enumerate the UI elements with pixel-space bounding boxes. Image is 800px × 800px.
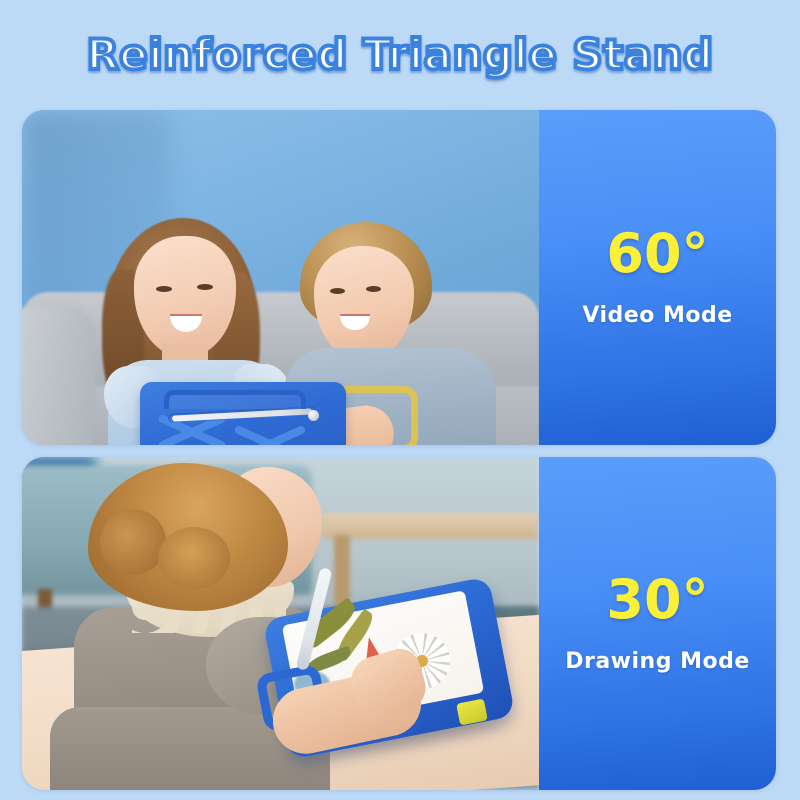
header: Reinforced Triangle Stand [0, 0, 800, 108]
photo-video-mode [22, 110, 539, 445]
info-video-mode: 60° Video Mode [539, 110, 776, 445]
case-carry-handle [164, 390, 306, 409]
scene-sofa-armrest [22, 306, 96, 445]
girl-eye-right [197, 284, 213, 290]
girl-hair-curl-2 [158, 527, 230, 589]
page-title: Reinforced Triangle Stand [86, 30, 713, 79]
angle-value-60: 60° [606, 227, 708, 281]
feature-panel-drawing-mode: 30° Drawing Mode [22, 457, 776, 790]
boy-eye-left [330, 288, 345, 294]
angle-value-30: 30° [606, 573, 708, 627]
photo-drawing-mode [22, 457, 539, 790]
feature-panel-video-mode: 60° Video Mode [22, 110, 776, 445]
mode-label-drawing: Drawing Mode [565, 649, 750, 674]
info-drawing-mode: 30° Drawing Mode [539, 457, 776, 790]
scene-wooden-table [322, 513, 537, 539]
mode-label-video: Video Mode [582, 303, 732, 328]
girl-eye-left [156, 286, 172, 292]
stylus-tip [308, 410, 319, 421]
boy-eye-right [366, 286, 381, 292]
girl-hair-curl-1 [100, 509, 166, 575]
